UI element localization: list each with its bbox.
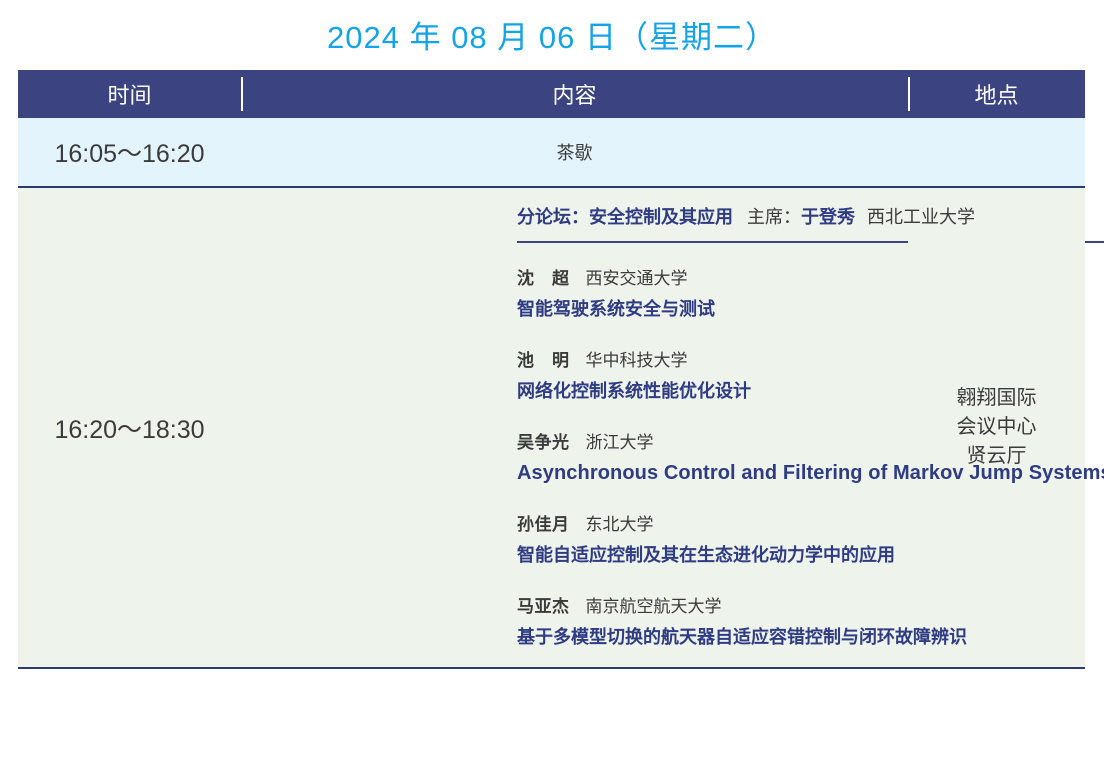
talk-speaker: 池 明 [517, 351, 570, 370]
cell-content-session: 分论坛：安全控制及其应用主席：于登秀西北工业大学 沈 超西安交通大学 智能驾驶系… [241, 187, 908, 668]
cell-content-tea-break: 茶歇 [241, 118, 908, 187]
talk-affiliation: 南京航空航天大学 [586, 597, 722, 616]
chair-affiliation: 西北工业大学 [867, 207, 975, 227]
talk-speaker: 马亚杰 [517, 597, 570, 616]
forum-label: 分论坛： [517, 207, 589, 227]
table-header-row: 时间 内容 地点 [18, 70, 1085, 118]
session-block: 分论坛：安全控制及其应用主席：于登秀西北工业大学 沈 超西安交通大学 智能驾驶系… [241, 188, 908, 667]
column-header-place: 地点 [908, 70, 1085, 118]
talk-affiliation: 东北大学 [586, 515, 654, 534]
table-row-session: 16:20～18:30 分论坛：安全控制及其应用主席：于登秀西北工业大学 沈 超… [18, 187, 1085, 668]
table-body: 16:05～16:20 茶歇 16:20～18:30 分论坛：安全控制及其应用主… [18, 118, 1085, 668]
chair-name: 于登秀 [801, 207, 855, 227]
talk-speaker: 吴争光 [517, 433, 570, 452]
cell-time-session: 16:20～18:30 [18, 187, 241, 668]
schedule-page: 2024 年 08 月 06 日（星期二） 时间 内容 地点 16:05～16:… [0, 0, 1104, 763]
chair-label: 主席： [747, 207, 801, 227]
talk-affiliation: 西安交通大学 [586, 269, 688, 288]
table-row-tea-break: 16:05～16:20 茶歇 [18, 118, 1085, 187]
talk-affiliation: 浙江大学 [586, 433, 654, 452]
cell-place-tea-break [908, 118, 1085, 187]
talk-speaker: 孙佳月 [517, 515, 570, 534]
cell-place-session: 翱翔国际 会议中心 贤云厅 [908, 187, 1085, 668]
column-header-content: 内容 [241, 70, 908, 118]
talk-affiliation: 华中科技大学 [586, 351, 688, 370]
cell-time-tea-break: 16:05～16:20 [18, 118, 241, 187]
forum-name: 安全控制及其应用 [589, 207, 733, 227]
schedule-table: 时间 内容 地点 16:05～16:20 茶歇 16:20～18:30 分论坛：… [18, 70, 1085, 669]
table-header: 时间 内容 地点 [18, 70, 1085, 118]
column-header-time: 时间 [18, 70, 241, 118]
page-title: 2024 年 08 月 06 日（星期二） [0, 18, 1104, 58]
talk-speaker: 沈 超 [517, 269, 570, 288]
